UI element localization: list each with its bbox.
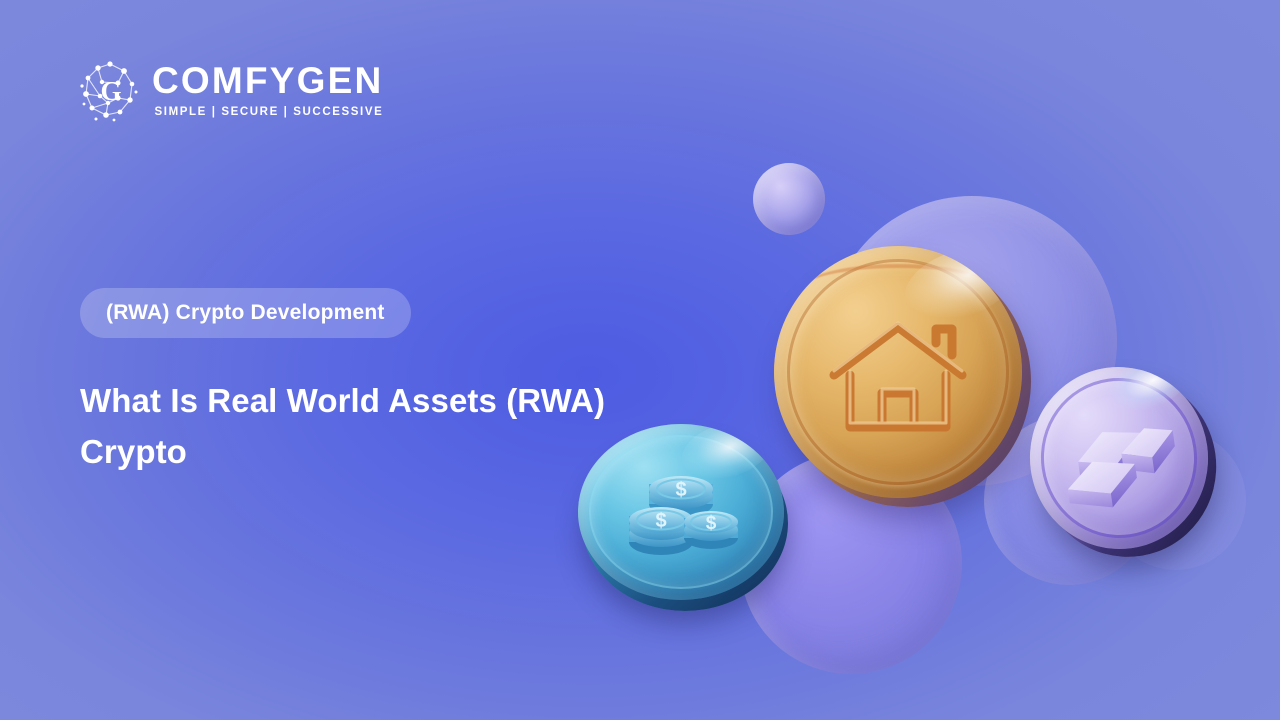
real-estate-coin <box>774 246 1022 498</box>
hero-banner: $ $ $ <box>0 0 1280 720</box>
svg-text:$: $ <box>655 510 666 532</box>
coin-face <box>774 246 1022 498</box>
house-icon <box>824 313 972 441</box>
decorative-orb-small <box>753 163 825 235</box>
commodity-coin <box>1018 355 1220 560</box>
brand-name: COMFYGEN <box>152 62 383 99</box>
page-title: What Is Real World Assets (RWA) Crypto <box>80 375 680 478</box>
network-nodes-g-logo-icon: G <box>78 58 142 122</box>
svg-text:$: $ <box>675 479 686 501</box>
gold-bars-icon <box>1054 400 1185 515</box>
category-badge: (RWA) Crypto Development <box>80 288 411 338</box>
brand-logo[interactable]: G COMFYGEN SIMPLE | SECURE | SUCCESSIVE <box>78 58 383 122</box>
svg-text:$: $ <box>706 513 717 534</box>
svg-text:G: G <box>100 76 121 106</box>
brand-tagline: SIMPLE | SECURE | SUCCESSIVE <box>152 106 383 118</box>
